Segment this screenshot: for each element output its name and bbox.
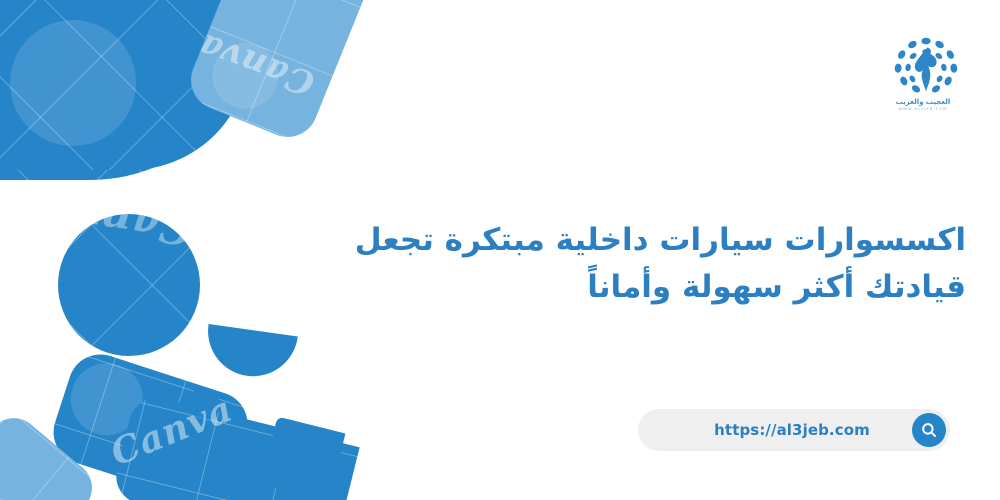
url-search-bar[interactable]: https://al3jeb.com: [638, 409, 950, 451]
bottom-left-arrow-tip-shape: [261, 417, 346, 500]
blob-highlight-dot: [10, 40, 140, 170]
page-title-line-2: قيادتك أكثر سهولة وأماناً: [276, 264, 966, 311]
canva-watermark: Canva: [105, 388, 239, 475]
top-left-blob-shape-secondary: [0, 0, 250, 170]
bottom-left-light-shape: [0, 407, 103, 500]
canva-watermark: Canva: [43, 186, 196, 255]
page-title-line-1: اكسسوارات سيارات داخلية مبتكرة تجعل: [276, 217, 966, 264]
blob-highlight-dot: [10, 20, 136, 146]
blob-highlight-dot: [202, 33, 288, 119]
logo-wordmark: العجيب والغريب: [884, 98, 962, 107]
logo-subtext: WWW.AL3JEB.COM: [884, 107, 962, 111]
blob-highlight-dot: [61, 354, 152, 445]
tree-bird-emblem-icon: [890, 36, 962, 96]
site-logo[interactable]: العجيب والغريب WWW.AL3JEB.COM: [884, 36, 962, 120]
bottom-left-small-square-shape: [187, 387, 221, 421]
grid-texture: [45, 346, 256, 500]
grid-texture: [182, 0, 374, 146]
search-button[interactable]: [912, 413, 946, 447]
grid-texture: [58, 214, 200, 356]
top-left-blob-shape: [0, 0, 260, 180]
mid-left-circle-shape: [58, 214, 200, 356]
grid-texture: [0, 0, 250, 170]
bottom-left-rounded-rect-shape: [45, 346, 256, 500]
page-title: اكسسوارات سيارات داخلية مبتكرة تجعل قياد…: [276, 217, 966, 311]
grid-texture: [110, 392, 359, 500]
bottom-left-rounded-rect-shape-secondary: [110, 392, 359, 500]
bottom-left-stub-shape: [202, 324, 298, 382]
grid-texture: [0, 407, 103, 500]
top-light-rounded-rect-shape: [182, 0, 374, 146]
banner-canvas: Canva Canva Canva: [0, 0, 1000, 500]
grid-texture: [0, 0, 260, 180]
url-text[interactable]: https://al3jeb.com: [638, 421, 912, 439]
canva-watermark: Canva: [193, 25, 320, 104]
search-icon: [920, 421, 938, 439]
